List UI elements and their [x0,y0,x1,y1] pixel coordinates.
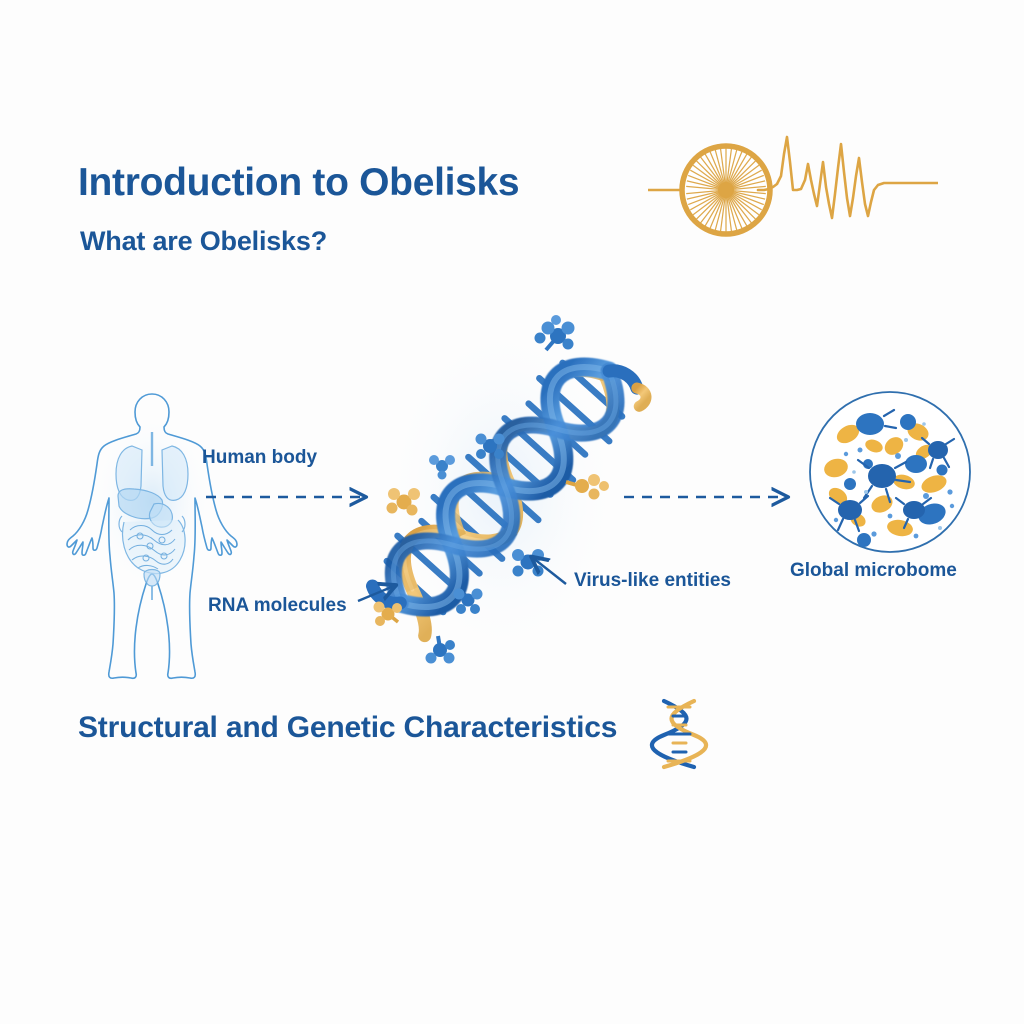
infographic-canvas: Introduction to Obelisks What are Obelis… [0,0,1024,1024]
label-human-body: Human body [202,447,317,469]
page-subtitle: What are Obelisks? [80,226,327,257]
dna-helix-icon [648,697,710,771]
page-title: Introduction to Obelisks [78,161,519,205]
label-rna-molecules: RNA molecules [208,595,347,617]
label-virus-like-entities: Virus-like entities [574,570,731,592]
section-heading: Structural and Genetic Characteristics [78,711,617,745]
human-body-silhouette [62,388,242,680]
rna-double-helix [352,300,652,680]
microbiome-petri-dish [806,388,974,556]
sunburst-waveform-ornament [648,132,938,240]
label-global-microbiome: Global microbome [790,560,957,582]
